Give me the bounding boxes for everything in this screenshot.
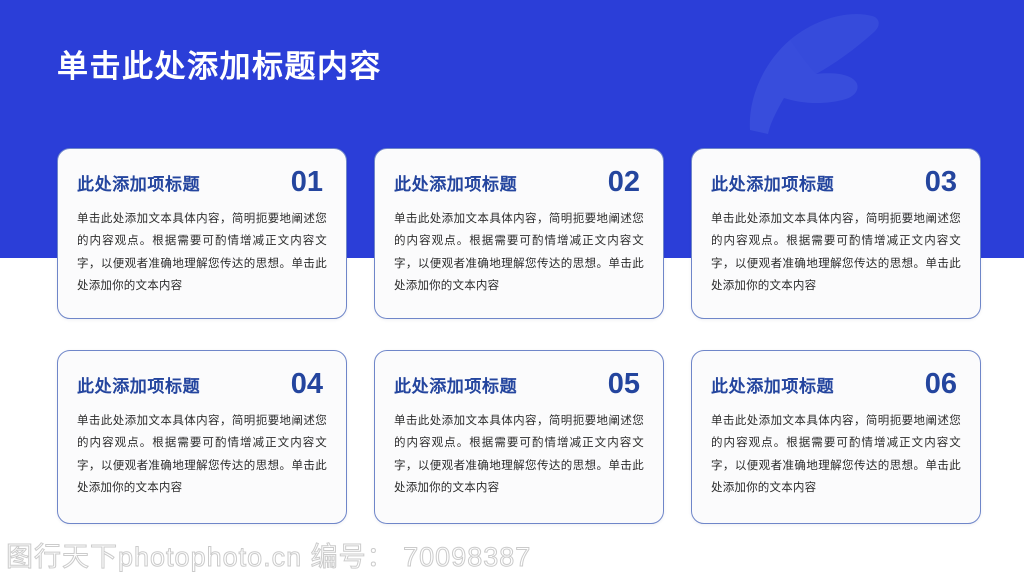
page-title: 单击此处添加标题内容 [57, 48, 382, 87]
card-number-badge: 04 [291, 370, 327, 399]
card-body-text: 单击此处添加文本具体内容，简明扼要地阐述您的内容观点。根据需要可酌情增减正文内容… [77, 208, 327, 298]
watermark-text: 图行天下photophoto.cn 编号： 70098387 [6, 535, 531, 574]
content-card-06[interactable]: 此处添加项标题 06 单击此处添加文本具体内容，简明扼要地阐述您的内容观点。根据… [691, 350, 981, 524]
card-header: 此处添加项标题 05 [394, 368, 644, 400]
content-card-01[interactable]: 此处添加项标题 01 单击此处添加文本具体内容，简明扼要地阐述您的内容观点。根据… [57, 148, 347, 319]
content-card-grid: 此处添加项标题 01 单击此处添加文本具体内容，简明扼要地阐述您的内容观点。根据… [57, 148, 981, 524]
card-number-badge: 03 [925, 168, 961, 197]
card-title: 此处添加项标题 [77, 372, 200, 397]
card-number-badge: 01 [291, 168, 327, 197]
content-card-04[interactable]: 此处添加项标题 04 单击此处添加文本具体内容，简明扼要地阐述您的内容观点。根据… [57, 350, 347, 524]
card-number-badge: 05 [608, 370, 644, 399]
presentation-slide: 单击此处添加标题内容 此处添加项标题 01 单击此处添加文本具体内容，简明扼要地… [0, 0, 1024, 576]
card-header: 此处添加项标题 01 [77, 166, 327, 198]
card-title: 此处添加项标题 [394, 372, 517, 397]
card-body-text: 单击此处添加文本具体内容，简明扼要地阐述您的内容观点。根据需要可酌情增减正文内容… [394, 208, 644, 298]
content-card-05[interactable]: 此处添加项标题 05 单击此处添加文本具体内容，简明扼要地阐述您的内容观点。根据… [374, 350, 664, 524]
content-card-03[interactable]: 此处添加项标题 03 单击此处添加文本具体内容，简明扼要地阐述您的内容观点。根据… [691, 148, 981, 319]
content-card-02[interactable]: 此处添加项标题 02 单击此处添加文本具体内容，简明扼要地阐述您的内容观点。根据… [374, 148, 664, 319]
card-number-badge: 06 [925, 370, 961, 399]
quill-feather-icon [738, 4, 928, 134]
card-title: 此处添加项标题 [711, 372, 834, 397]
card-title: 此处添加项标题 [77, 170, 200, 195]
card-title: 此处添加项标题 [394, 170, 517, 195]
card-body-text: 单击此处添加文本具体内容，简明扼要地阐述您的内容观点。根据需要可酌情增减正文内容… [394, 410, 644, 500]
watermark-strip: 图行天下photophoto.cn 编号： 70098387 [0, 532, 1024, 576]
card-header: 此处添加项标题 06 [711, 368, 961, 400]
card-body-text: 单击此处添加文本具体内容，简明扼要地阐述您的内容观点。根据需要可酌情增减正文内容… [711, 208, 961, 298]
card-body-text: 单击此处添加文本具体内容，简明扼要地阐述您的内容观点。根据需要可酌情增减正文内容… [711, 410, 961, 500]
card-header: 此处添加项标题 03 [711, 166, 961, 198]
card-body-text: 单击此处添加文本具体内容，简明扼要地阐述您的内容观点。根据需要可酌情增减正文内容… [77, 410, 327, 500]
card-header: 此处添加项标题 04 [77, 368, 327, 400]
card-title: 此处添加项标题 [711, 170, 834, 195]
card-number-badge: 02 [608, 168, 644, 197]
card-header: 此处添加项标题 02 [394, 166, 644, 198]
